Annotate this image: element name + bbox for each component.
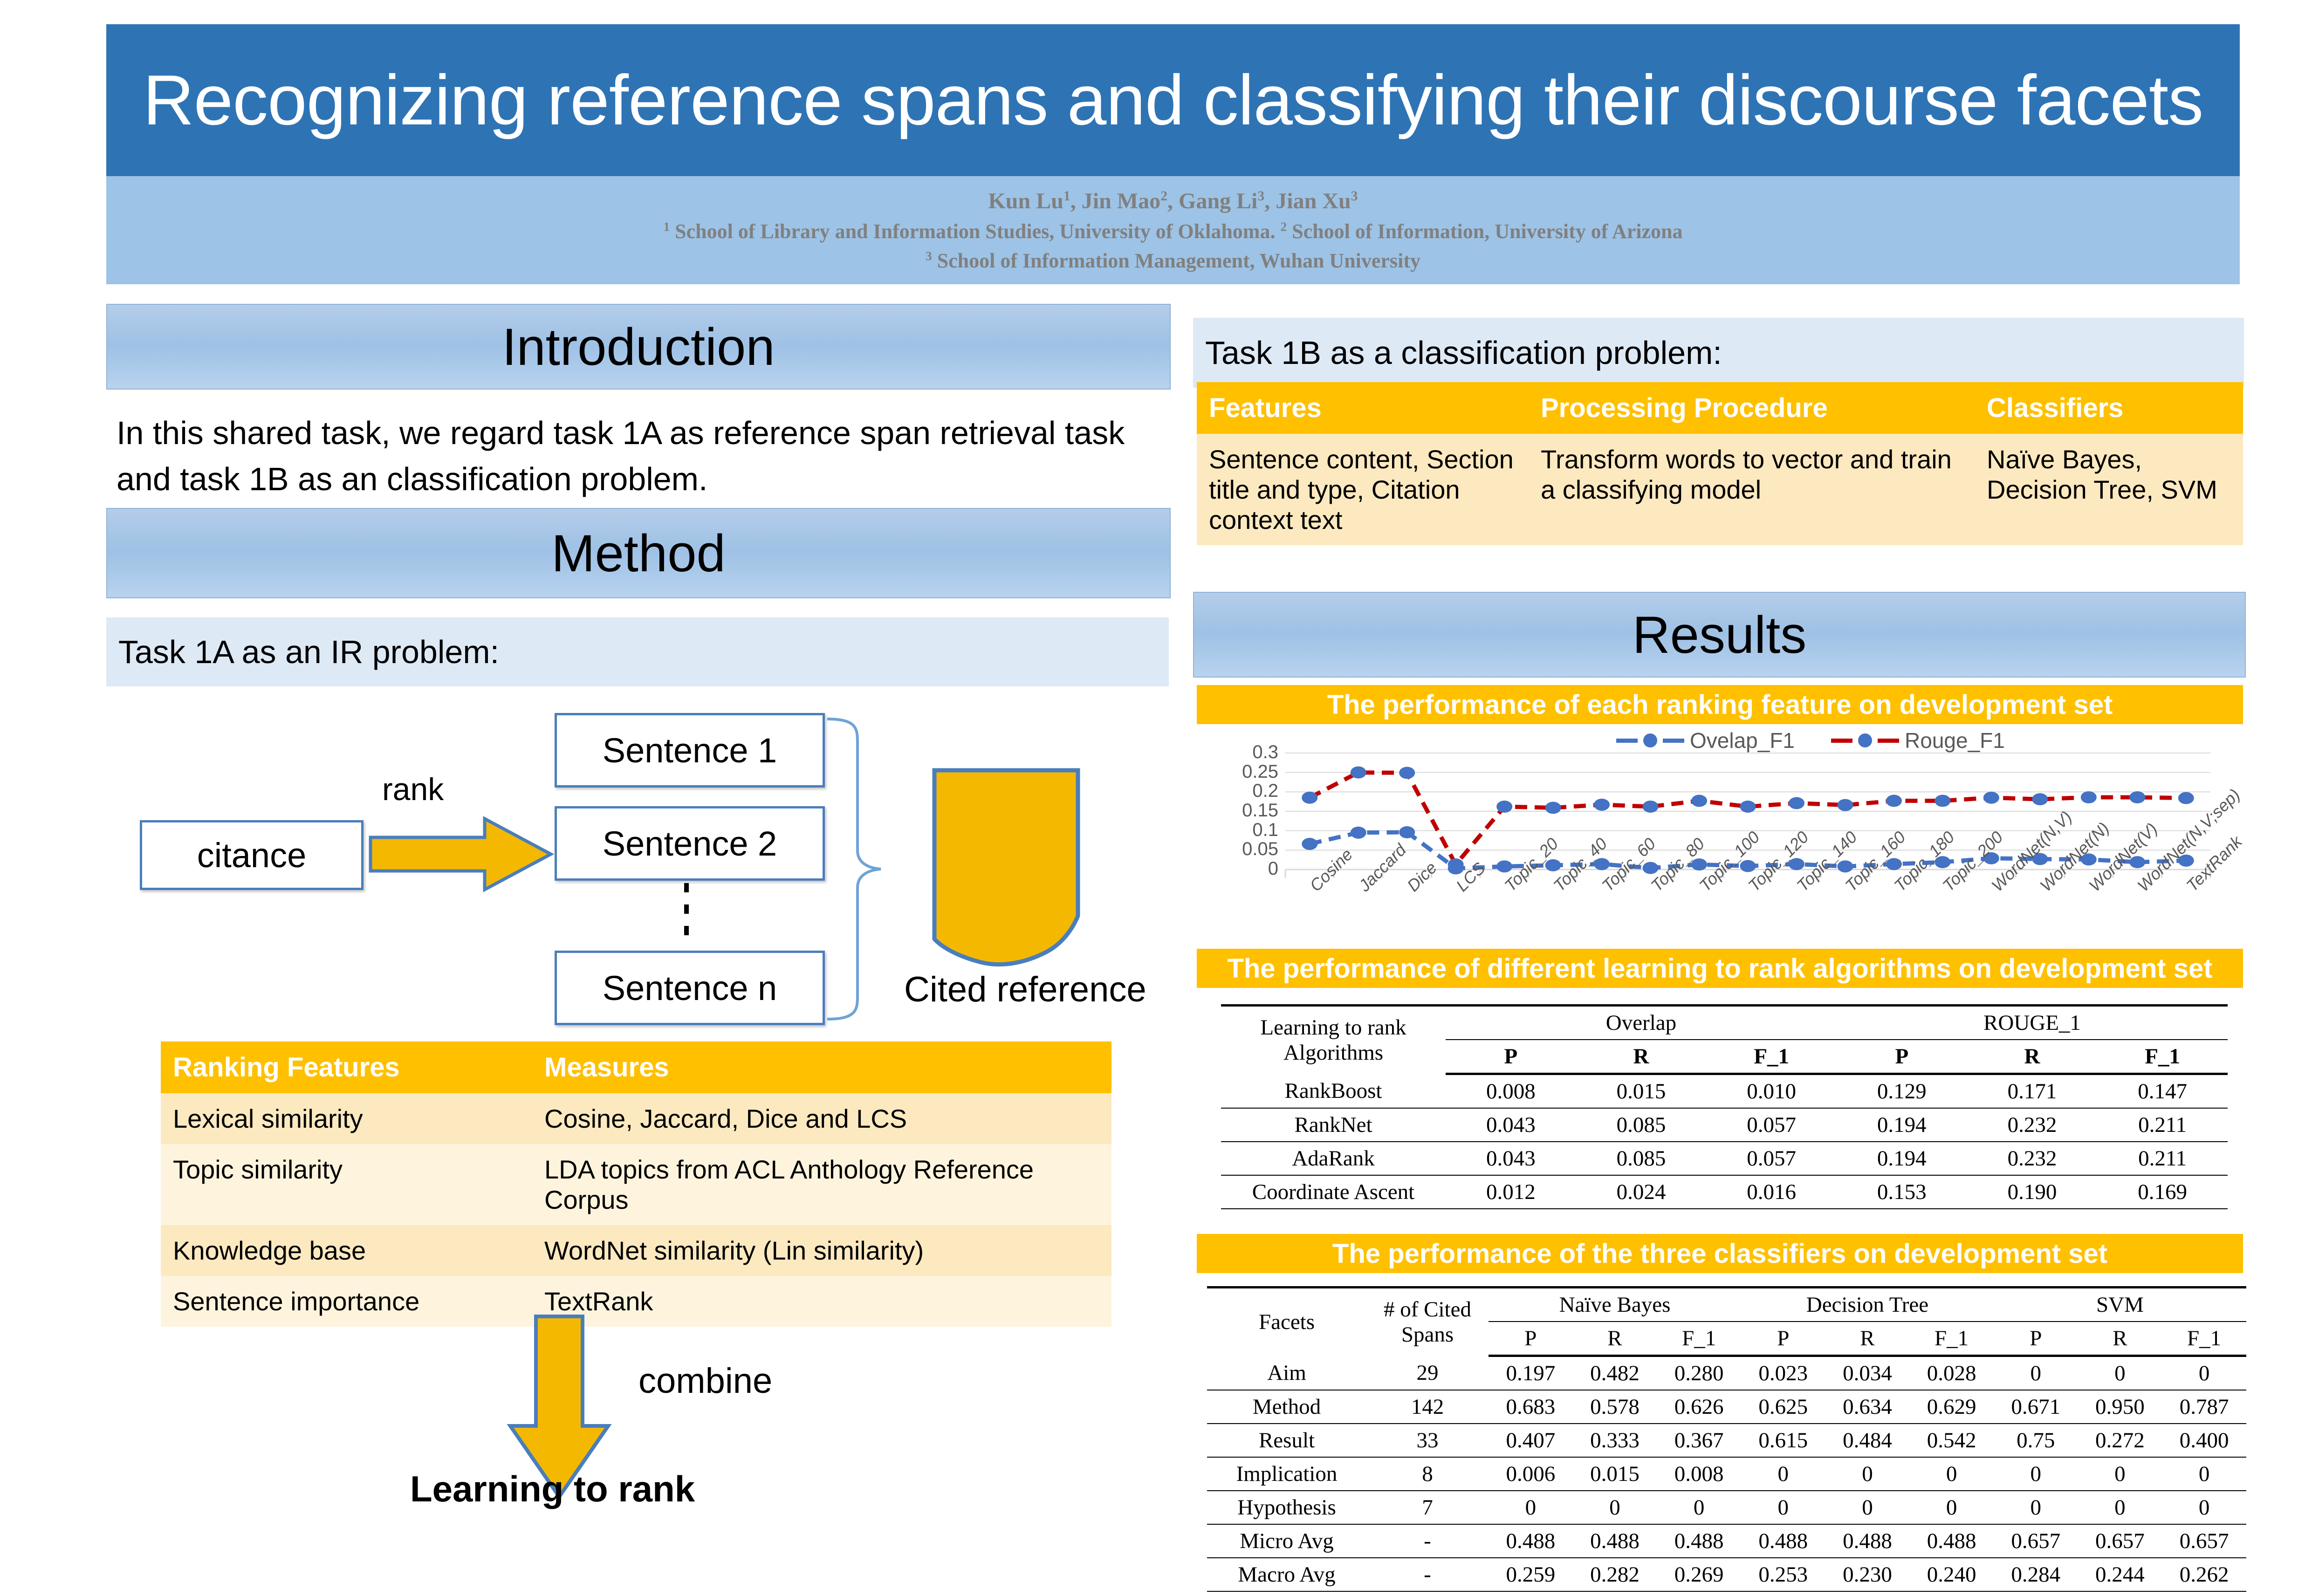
affiliation-line-2: 3 School of Information Management, Wuha… (926, 249, 1420, 273)
legend-label: Rouge_F1 (1905, 728, 2005, 753)
legend-marker-icon (1643, 733, 1657, 747)
cited-reference-label: Cited reference (904, 969, 1146, 1010)
cell-value: 0.615 (1741, 1424, 1825, 1457)
col-header-cited-spans: # of CitedSpans (1366, 1288, 1489, 1356)
cell-value: 0.625 (1741, 1390, 1825, 1424)
table-row: Aim290.1970.4820.2800.0230.0340.028000 (1207, 1356, 2246, 1391)
y-tick-label: 0.2 (1229, 781, 1278, 801)
section-header-results: Results (1193, 592, 2246, 678)
cell-value: 0.129 (1837, 1074, 1967, 1109)
sub-header-f_1: F_1 (2097, 1040, 2228, 1074)
cell-value: 0.488 (1825, 1524, 1910, 1558)
task1b-table: Features Processing Procedure Classifier… (1197, 382, 2243, 545)
row-facet: Micro Avg (1207, 1524, 1366, 1558)
cell-value: 0.488 (1909, 1524, 1994, 1558)
cell-value: 0.400 (2162, 1424, 2246, 1457)
cell-value: 0 (1994, 1491, 2078, 1524)
sub-header-8: F_1 (2162, 1322, 2246, 1356)
row-spans: 29 (1366, 1356, 1489, 1391)
cell-value: 0.085 (1576, 1142, 1707, 1175)
y-tick-label: 0.3 (1229, 742, 1278, 763)
method-heading: Method (551, 523, 726, 583)
cell-measure: LDA topics from ACL Anthology Reference … (532, 1144, 1111, 1225)
table-row: Hypothesis7000000000 (1207, 1491, 2246, 1524)
y-tick-label: 0.05 (1229, 839, 1278, 860)
cell-value: 0.006 (1489, 1457, 1573, 1491)
cell-feature: Topic similarity (161, 1144, 532, 1225)
y-tick-label: 0 (1229, 858, 1278, 879)
sub-header-p: P (1837, 1040, 1967, 1074)
cell-value: 0 (1909, 1491, 1994, 1524)
legend-dash-icon (1831, 739, 1852, 743)
task1b-heading: Task 1B as a classification problem: (1193, 334, 1722, 371)
table-row: Knowledge base WordNet similarity (Lin s… (161, 1225, 1111, 1276)
cell-value: 0.211 (2097, 1108, 2228, 1142)
cell-value: 0 (2162, 1457, 2246, 1491)
cell-value: 0.280 (1657, 1356, 1741, 1391)
cell-value: 0.787 (2162, 1390, 2246, 1424)
sentence-n-label: Sentence n (603, 968, 777, 1008)
cell-measure: WordNet similarity (Lin similarity) (532, 1225, 1111, 1276)
table-row: RankBoost0.0080.0150.0100.1290.1710.147 (1221, 1074, 2228, 1109)
cell-feature: Knowledge base (161, 1225, 532, 1276)
chart-plot-area (1197, 725, 2243, 921)
group-header-overlap: Overlap (1446, 1006, 1837, 1040)
section-header-introduction: Introduction (106, 304, 1171, 390)
row-spans: - (1366, 1524, 1489, 1558)
row-facet: Hypothesis (1207, 1491, 1366, 1524)
cell-value: 0.023 (1741, 1356, 1825, 1391)
cell-value: 0.578 (1573, 1390, 1657, 1424)
banner-ltr-label: The performance of different learning to… (1227, 953, 2212, 984)
sub-header-4: R (1825, 1322, 1910, 1356)
sub-header-r: R (1576, 1040, 1707, 1074)
section-header-method: Method (106, 508, 1171, 598)
cell-value: 0.262 (2162, 1558, 2246, 1591)
cell-value: 0.024 (1576, 1175, 1707, 1209)
author-band: Kun Lu1, Jin Mao2, Gang Li3, Jian Xu3 1 … (106, 176, 2240, 284)
cell-value: 0 (1909, 1457, 1994, 1491)
cell-feature: Lexical similarity (161, 1093, 532, 1144)
cell-value: 0.657 (1994, 1524, 2078, 1558)
table-row: Topic similarity LDA topics from ACL Ant… (161, 1144, 1111, 1225)
legend-dash-icon (1616, 739, 1638, 743)
cell-value: 0 (1825, 1491, 1910, 1524)
cell-value: 0 (1489, 1491, 1573, 1524)
cell-value: 0 (2078, 1491, 2162, 1524)
banner-chart-label: The performance of each ranking feature … (1327, 689, 2113, 720)
cell-value: 0.671 (1994, 1390, 2078, 1424)
col-header-classifiers: Classifiers (1975, 382, 2243, 434)
table-row: Implication80.0060.0150.008000000 (1207, 1457, 2246, 1491)
table-row: Lexical similarity Cosine, Jaccard, Dice… (161, 1093, 1111, 1144)
classifiers-table: Facets# of CitedSpansNaïve BayesDecision… (1207, 1286, 2246, 1592)
table-row: Method1420.6830.5780.6260.6250.6340.6290… (1207, 1390, 2246, 1424)
row-label: AdaRank (1221, 1142, 1446, 1175)
cell-value: 0.153 (1837, 1175, 1967, 1209)
table-header-row: Facets# of CitedSpansNaïve BayesDecision… (1207, 1288, 2246, 1322)
right-brace-icon (825, 715, 899, 1023)
cell-value: 0.626 (1657, 1390, 1741, 1424)
sub-header-1: R (1573, 1322, 1657, 1356)
flow-box-sentence-n: Sentence n (555, 951, 825, 1025)
cell-value: 0.230 (1825, 1558, 1910, 1591)
learning-to-rank-label: Learning to rank (410, 1468, 695, 1510)
cell-value: 0 (1994, 1356, 2078, 1391)
cell-measure: Cosine, Jaccard, Dice and LCS (532, 1093, 1111, 1144)
cell-value: 0 (1994, 1457, 2078, 1491)
sub-header-2: F_1 (1657, 1322, 1741, 1356)
cell-value: 0 (1657, 1491, 1741, 1524)
row-facet: Implication (1207, 1457, 1366, 1491)
cell-value: 0 (1741, 1457, 1825, 1491)
table-row: AdaRank0.0430.0850.0570.1940.2320.211 (1221, 1142, 2228, 1175)
learning-to-rank-table: Learning to rankAlgorithmsOverlapROUGE_1… (1221, 1004, 2228, 1209)
sentence-2-label: Sentence 2 (603, 824, 777, 863)
sentence-1-label: Sentence 1 (603, 731, 777, 770)
group-header-0: Naïve Bayes (1489, 1288, 1741, 1322)
row-facet: Result (1207, 1424, 1366, 1457)
cell-value: 0.488 (1657, 1524, 1741, 1558)
table-header-row: Learning to rankAlgorithmsOverlapROUGE_1 (1221, 1006, 2228, 1040)
subheader-task1a: Task 1A as an IR problem: (106, 617, 1169, 686)
affiliation-line-1: 1 School of Library and Information Stud… (663, 219, 1682, 243)
cell-value: 0.190 (1967, 1175, 2098, 1209)
cell-value: 0.197 (1489, 1356, 1573, 1391)
group-header-2: SVM (1994, 1288, 2246, 1322)
sub-header-6: P (1994, 1322, 2078, 1356)
row-facet: Macro Avg (1207, 1558, 1366, 1591)
table-row: Micro Avg-0.4880.4880.4880.4880.4880.488… (1207, 1524, 2246, 1558)
table-row: Result330.4070.3330.3670.6150.4840.5420.… (1207, 1424, 2246, 1457)
chart-legend: Ovelap_F1Rouge_F1 (1616, 728, 2033, 753)
cell-value: 0.240 (1909, 1558, 1994, 1591)
cell-value: 0.232 (1967, 1142, 2098, 1175)
ranking-feature-chart: CosineJaccardDiceLCSTopic_20Topic_40Topi… (1197, 725, 2243, 921)
legend-label: Ovelap_F1 (1690, 728, 1795, 753)
table-header-row: Features Processing Procedure Classifier… (1197, 382, 2243, 434)
y-tick-label: 0.1 (1229, 820, 1278, 841)
row-spans: - (1366, 1558, 1489, 1591)
cell-feature: Sentence importance (161, 1276, 532, 1327)
rank-label: rank (382, 771, 444, 808)
rank-arrow-icon (368, 813, 555, 897)
row-spans: 33 (1366, 1424, 1489, 1457)
table-row: Macro Avg-0.2590.2820.2690.2530.2300.240… (1207, 1558, 2246, 1591)
row-label: RankNet (1221, 1108, 1446, 1142)
cell-value: 0 (1741, 1491, 1825, 1524)
cell-value: 0.282 (1573, 1558, 1657, 1591)
combine-label: combine (638, 1361, 772, 1401)
cell-value: 0.244 (2078, 1558, 2162, 1591)
cell-value: 0.407 (1489, 1424, 1573, 1457)
cell-value: 0.482 (1573, 1356, 1657, 1391)
cell-value: 0.634 (1825, 1390, 1910, 1424)
cell-value: 0.008 (1657, 1457, 1741, 1491)
sub-header-f_1: F_1 (1706, 1040, 1837, 1074)
legend-item: Ovelap_F1 (1616, 728, 1795, 753)
cell-value: 0.333 (1573, 1424, 1657, 1457)
table-row: Sentence content, Section title and type… (1197, 434, 2243, 545)
task1a-heading: Task 1A as an IR problem: (106, 633, 499, 671)
cell-value: 0.269 (1657, 1558, 1741, 1591)
cell-value: 0.194 (1837, 1142, 1967, 1175)
sub-header-5: F_1 (1909, 1322, 1994, 1356)
legend-dash-icon (1878, 739, 1899, 743)
cell-value: 0.028 (1909, 1356, 1994, 1391)
cell-value: 0.272 (2078, 1424, 2162, 1457)
cell-value: 0.043 (1446, 1142, 1576, 1175)
cell-value: 0 (2162, 1356, 2246, 1391)
cell-value: 0.488 (1489, 1524, 1573, 1558)
poster-title-band: Recognizing reference spans and classify… (106, 24, 2240, 176)
cell-value: 0.683 (1489, 1390, 1573, 1424)
banner-clf-label: The performance of the three classifiers… (1332, 1238, 2107, 1269)
corner-label: Learning to rankAlgorithms (1221, 1006, 1446, 1074)
cell-value: 0.085 (1576, 1108, 1707, 1142)
row-facet: Method (1207, 1390, 1366, 1424)
cell-value: 0.010 (1706, 1074, 1837, 1109)
col-header-measures: Measures (532, 1041, 1111, 1093)
legend-marker-icon (1858, 733, 1872, 747)
flow-box-sentence-2: Sentence 2 (555, 806, 825, 881)
cell-value: 0 (2162, 1491, 2246, 1524)
cell-value: 0 (2078, 1356, 2162, 1391)
cell-value: 0.015 (1576, 1074, 1707, 1109)
cell-features: Sentence content, Section title and type… (1197, 434, 1529, 545)
cell-classifiers: Naïve Bayes, Decision Tree, SVM (1975, 434, 2243, 545)
cell-value: 0.043 (1446, 1108, 1576, 1142)
cell-value: 0.253 (1741, 1558, 1825, 1591)
sub-header-3: P (1741, 1322, 1825, 1356)
page-title: Recognizing reference spans and classify… (143, 60, 2203, 141)
cell-processing: Transform words to vector and train a cl… (1529, 434, 1975, 545)
cell-value: 0.657 (2078, 1524, 2162, 1558)
cell-value: 0.484 (1825, 1424, 1910, 1457)
citance-label: citance (197, 836, 306, 875)
cell-value: 0 (2078, 1457, 2162, 1491)
results-heading: Results (1633, 605, 1806, 665)
cell-value: 0 (1825, 1457, 1910, 1491)
banner-classifiers: The performance of the three classifiers… (1197, 1234, 2243, 1273)
subheader-task1b: Task 1B as a classification problem: (1193, 318, 2244, 388)
introduction-text: In this shared task, we regard task 1A a… (117, 410, 1165, 503)
y-tick-label: 0.15 (1229, 800, 1278, 821)
row-label: Coordinate Ascent (1221, 1175, 1446, 1209)
table-row: Coordinate Ascent0.0120.0240.0160.1530.1… (1221, 1175, 2228, 1209)
legend-item: Rouge_F1 (1831, 728, 2005, 753)
flow-box-citance: citance (140, 820, 364, 890)
col-header-features: Features (1197, 382, 1529, 434)
cell-value: 0.147 (2097, 1074, 2228, 1109)
cell-value: 0.034 (1825, 1356, 1910, 1391)
cell-value: 0 (1573, 1491, 1657, 1524)
banner-chart: The performance of each ranking feature … (1197, 685, 2243, 724)
cell-value: 0.194 (1837, 1108, 1967, 1142)
cell-value: 0.259 (1489, 1558, 1573, 1591)
cell-value: 0.008 (1446, 1074, 1576, 1109)
col-header-facets: Facets (1207, 1288, 1366, 1356)
banner-learning-to-rank: The performance of different learning to… (1197, 949, 2243, 988)
group-header-1: Decision Tree (1741, 1288, 1994, 1322)
table-header-row: Ranking Features Measures (161, 1041, 1111, 1093)
cell-value: 0.057 (1706, 1142, 1837, 1175)
cell-value: 0.629 (1909, 1390, 1994, 1424)
cell-value: 0.016 (1706, 1175, 1837, 1209)
row-facet: Aim (1207, 1356, 1366, 1391)
cell-value: 0.012 (1446, 1175, 1576, 1209)
ellipsis-vertical-icon (684, 883, 689, 935)
sub-header-r: R (1967, 1040, 2098, 1074)
cell-value: 0.367 (1657, 1424, 1741, 1457)
cell-value: 0.232 (1967, 1108, 2098, 1142)
sub-header-7: R (2078, 1322, 2162, 1356)
y-tick-label: 0.25 (1229, 761, 1278, 782)
cell-value: 0.284 (1994, 1558, 2078, 1591)
row-spans: 7 (1366, 1491, 1489, 1524)
introduction-heading: Introduction (502, 317, 775, 377)
table-row: RankNet0.0430.0850.0570.1940.2320.211 (1221, 1108, 2228, 1142)
cell-value: 0.542 (1909, 1424, 1994, 1457)
cell-value: 0.211 (2097, 1142, 2228, 1175)
flow-box-sentence-1: Sentence 1 (555, 713, 825, 788)
cell-value: 0.169 (2097, 1175, 2228, 1209)
col-header-processing-procedure: Processing Procedure (1529, 382, 1975, 434)
row-spans: 142 (1366, 1390, 1489, 1424)
cell-value: 0.75 (1994, 1424, 2078, 1457)
poster-root: Recognizing reference spans and classify… (0, 0, 2312, 1596)
cell-value: 0.015 (1573, 1457, 1657, 1491)
sub-header-0: P (1489, 1322, 1573, 1356)
cell-value: 0.657 (2162, 1524, 2246, 1558)
row-label: RankBoost (1221, 1074, 1446, 1109)
ranking-features-table: Ranking Features Measures Lexical simila… (161, 1041, 1111, 1327)
cell-value: 0.488 (1573, 1524, 1657, 1558)
cell-value: 0.488 (1741, 1524, 1825, 1558)
cell-value: 0.950 (2078, 1390, 2162, 1424)
col-header-ranking-features: Ranking Features (161, 1041, 532, 1093)
row-spans: 8 (1366, 1457, 1489, 1491)
legend-dash-icon (1663, 739, 1684, 743)
author-list: Kun Lu1, Jin Mao2, Gang Li3, Jian Xu3 (988, 188, 1358, 214)
cell-value: 0.057 (1706, 1108, 1837, 1142)
sub-header-p: P (1446, 1040, 1576, 1074)
group-header-rouge: ROUGE_1 (1837, 1006, 2228, 1040)
cell-value: 0.171 (1967, 1074, 2098, 1109)
